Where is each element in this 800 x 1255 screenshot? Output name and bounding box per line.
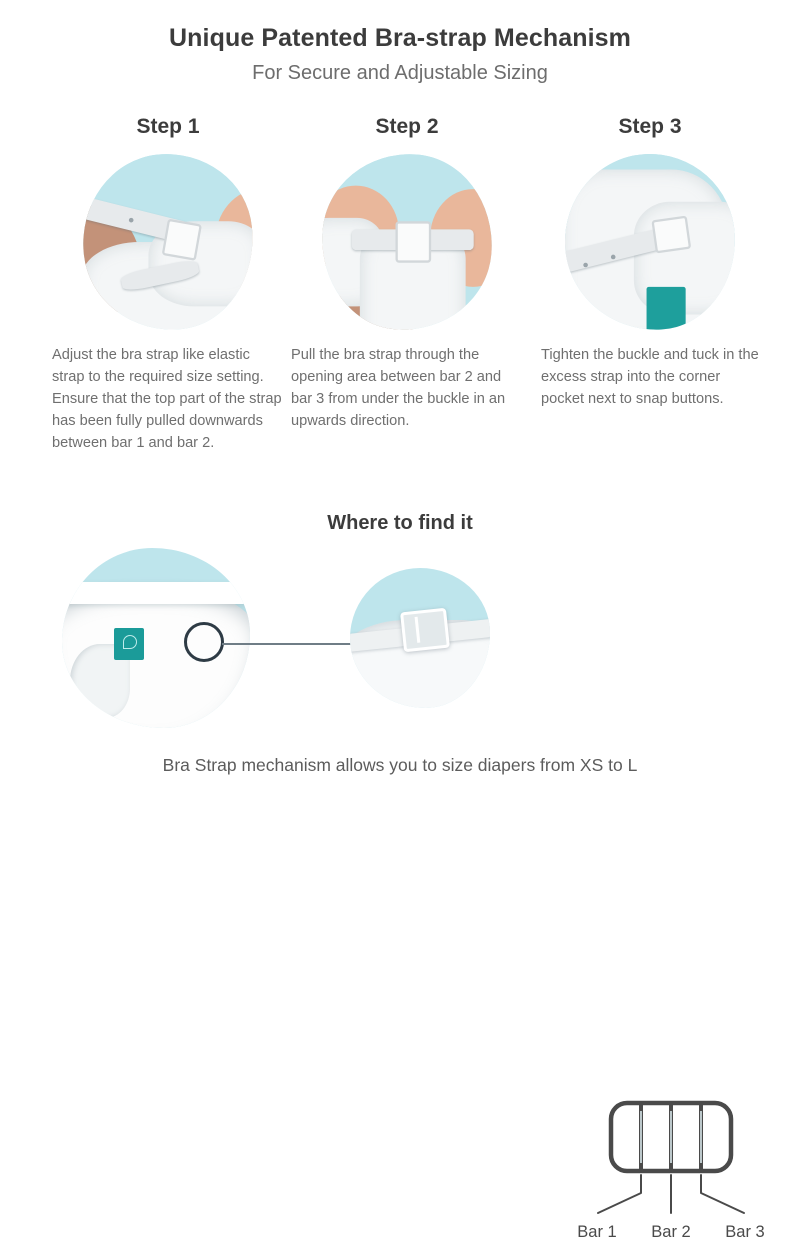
page-subtitle: For Secure and Adjustable Sizing <box>0 62 800 85</box>
where-to-find-it-section: Bar 1 Bar 2 Bar 3 <box>0 540 800 740</box>
where-to-find-it-title: Where to find it <box>0 512 800 535</box>
bar-gap-highlights <box>641 1111 701 1163</box>
brand-logo-label <box>114 628 144 660</box>
step-1: Step 1 Adjust the bra s <box>44 112 292 454</box>
bar-3-leader <box>701 1175 744 1213</box>
bar-label-row: Bar 1 Bar 2 Bar 3 <box>556 1223 786 1242</box>
step-1-photo-blob <box>74 146 261 339</box>
step-2: Step 2 Pull the bra strap through th <box>283 112 531 432</box>
callout-ring-icon <box>184 622 224 662</box>
step-2-photo <box>322 154 492 330</box>
bar-leader-lines <box>598 1175 744 1213</box>
step-1-title: Step 1 <box>44 112 292 142</box>
strap-buckle <box>395 222 431 263</box>
bar-2-label: Bar 2 <box>638 1223 704 1242</box>
bar-3-label: Bar 3 <box>712 1223 778 1242</box>
step-1-photo <box>83 154 253 330</box>
step-3-text: Tighten the buckle and tuck in the exces… <box>541 344 759 410</box>
bar-1-leader <box>598 1175 641 1213</box>
bar-1-label: Bar 1 <box>564 1223 630 1242</box>
steps-row: Step 1 Adjust the bra s <box>0 112 800 492</box>
bar-diagram: Bar 1 Bar 2 Bar 3 <box>556 1095 786 1255</box>
step-2-title: Step 2 <box>283 112 531 142</box>
snap-button-1 <box>584 262 589 267</box>
step-1-text: Adjust the bra strap like elastic strap … <box>52 344 284 454</box>
strap-buckle <box>652 215 692 253</box>
callout-leader-line <box>222 643 352 645</box>
snap-button <box>129 218 134 223</box>
step-3-title: Step 3 <box>526 112 774 142</box>
snap-button-2 <box>611 254 616 259</box>
step-3: Step 3 Tighten the buckle and tuck i <box>526 112 774 410</box>
step-3-photo-content <box>561 150 740 335</box>
bar-diagram-svg <box>556 1095 786 1223</box>
buckle-zoom-photo <box>350 568 490 708</box>
footer-caption: Bra Strap mechanism allows you to size d… <box>0 755 800 776</box>
step-2-text: Pull the bra strap through the opening a… <box>291 344 523 432</box>
strap-buckle <box>161 219 201 261</box>
infographic-page: Unique Patented Bra-strap Mechanism For … <box>0 0 800 800</box>
diaper-waistband <box>62 582 250 604</box>
step-1-photo-content <box>74 146 261 339</box>
step-3-photo-blob <box>561 150 740 335</box>
page-title: Unique Patented Bra-strap Mechanism <box>0 24 800 53</box>
brand-label <box>646 287 685 335</box>
step-2-photo-blob <box>316 148 498 335</box>
step-3-photo <box>565 154 735 330</box>
step-2-photo-content <box>316 148 498 335</box>
strap-buckle <box>400 608 450 653</box>
